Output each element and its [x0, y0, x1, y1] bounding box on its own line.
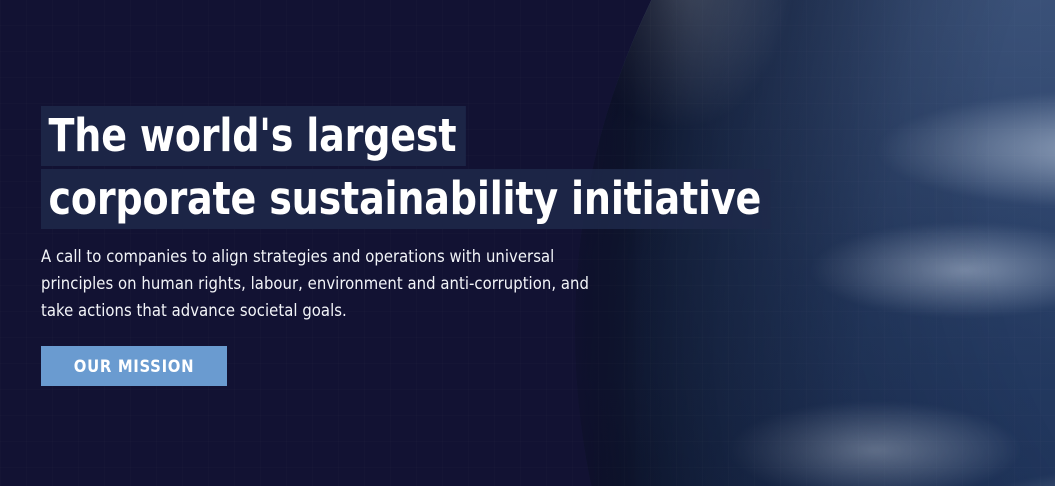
hero-subtext: A call to companies to align strategies … [41, 243, 621, 324]
headline-line-2: corporate sustainability initiative [41, 169, 771, 229]
hero-content: The world's largest corporate sustainabi… [41, 0, 761, 486]
page-title: The world's largest corporate sustainabi… [41, 106, 741, 229]
hero-banner: The world's largest corporate sustainabi… [0, 0, 1055, 486]
headline-line-1: The world's largest [41, 106, 466, 166]
our-mission-button[interactable]: OUR MISSION [41, 346, 227, 386]
